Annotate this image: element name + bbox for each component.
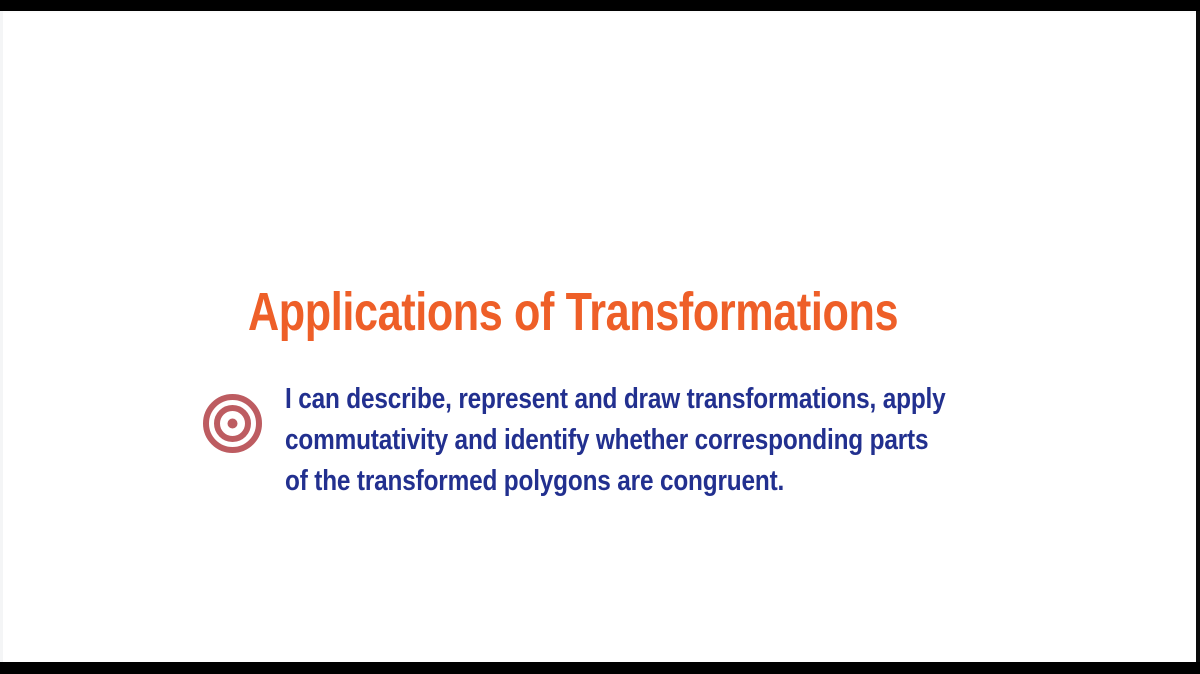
letterbox-bar-bottom xyxy=(0,662,1200,674)
slide-left-edge xyxy=(0,11,3,662)
objective-line: of the transformed polygons are congruen… xyxy=(285,461,873,502)
slide-top-edge xyxy=(0,11,1196,13)
letterbox-bar-top xyxy=(0,0,1200,11)
objective-line: commutativity and identify whether corre… xyxy=(285,420,873,461)
video-player-frame: Applications of Transformations I can de… xyxy=(0,0,1200,674)
objective-line: I can describe, represent and draw trans… xyxy=(285,379,873,420)
slide-right-edge xyxy=(1196,11,1200,662)
page-title: Applications of Transformations xyxy=(248,283,840,341)
bullseye-target-icon xyxy=(203,394,262,453)
learning-objective-text: I can describe, represent and draw trans… xyxy=(285,379,985,502)
presentation-slide: Applications of Transformations I can de… xyxy=(0,11,1196,662)
